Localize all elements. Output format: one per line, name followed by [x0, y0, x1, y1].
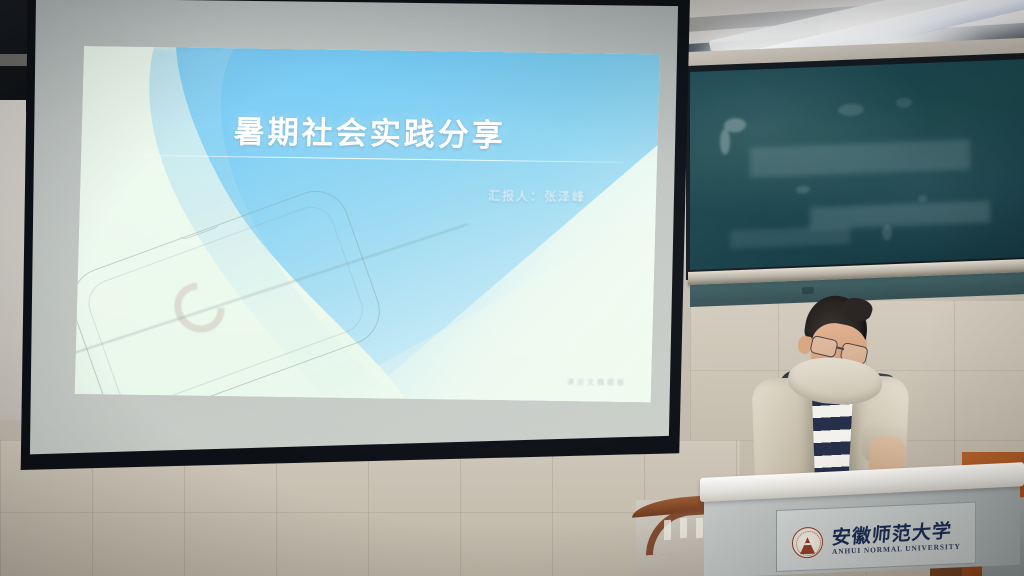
slide-footer-watermark: 演示文稿模板	[567, 377, 627, 388]
slide-subtitle-presenter: 汇报人：张泽峰	[488, 187, 586, 205]
university-logo: 安徽师范大学 ANHUI NORMAL UNIVERSITY	[792, 514, 970, 565]
side-desk-slot	[664, 520, 671, 540]
glasses-bridge	[837, 347, 844, 350]
blackboard	[690, 59, 1024, 270]
slide-background: 暑期社会实践分享 汇报人：张泽峰 演示文稿模板	[75, 46, 660, 402]
podium: 安徽师范大学 ANHUI NORMAL UNIVERSITY	[700, 478, 1024, 576]
slide-content: 暑期社会实践分享 汇报人：张泽峰 演示文稿模板	[75, 46, 660, 402]
university-seal-icon	[792, 526, 823, 558]
side-desk-slot	[680, 518, 687, 538]
lecture-hall-photo: 暑期社会实践分享 汇报人：张泽峰 演示文稿模板	[0, 0, 1024, 576]
slide-title: 暑期社会实践分享	[81, 104, 658, 157]
projection-screen[interactable]: 暑期社会实践分享 汇报人：张泽峰 演示文稿模板	[18, 0, 690, 470]
